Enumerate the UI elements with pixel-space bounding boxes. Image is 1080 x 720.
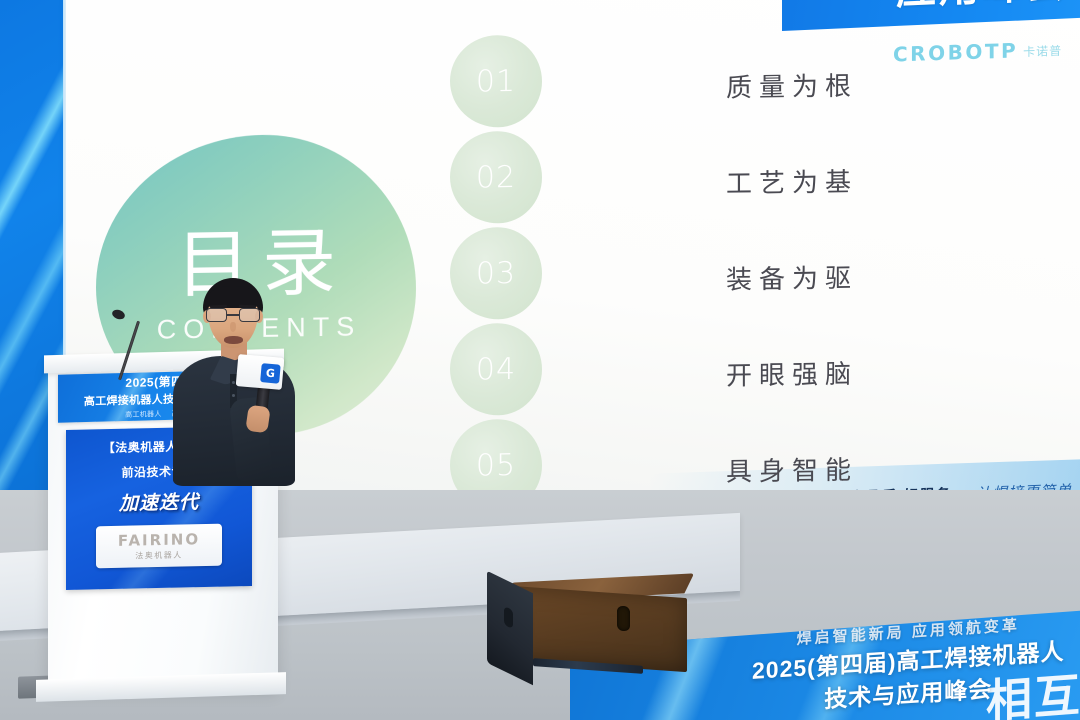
slide-item: 开眼强脑: [726, 324, 858, 422]
slide-number-text: 04: [476, 351, 516, 387]
slide-item: 工艺为基: [726, 132, 858, 230]
slide-number-text: 03: [476, 255, 516, 291]
podium-org-1: 高工机器人: [125, 409, 162, 420]
glasses-icon: [206, 308, 260, 322]
slide-item-label: 具身智能: [726, 449, 858, 488]
slide-item-label: 质量为根: [726, 65, 858, 104]
slide-item: 装备为驱: [726, 228, 858, 326]
stage-monitor-speaker: [487, 578, 687, 674]
slide-item-label: 开眼强脑: [726, 353, 858, 392]
slide-number-circle: 04: [450, 323, 542, 416]
slide-number-column: 01 02 03 04 05: [450, 35, 542, 516]
glasses-lens-right: [239, 308, 260, 322]
person-shirt-button: [232, 394, 235, 397]
slide-number-circle: 03: [450, 227, 542, 320]
person-shirt-button: [232, 381, 235, 384]
fairino-logo: FAIRINO 法奥机器人: [96, 524, 222, 569]
mic-flag-box: G: [236, 354, 285, 390]
conference-stage-scene: 应用峰会 CROBOTP 卡诺普 高品质 好服务 让焊接更简单 目录 CONTE…: [0, 0, 1080, 720]
slide-number-text: 01: [476, 63, 516, 99]
slide-item-column: 质量为根 工艺为基 装备为驱 开眼强脑 具身智能: [726, 36, 858, 518]
slide-item-label: 工艺为基: [726, 161, 858, 200]
slide-number-circle: 01: [450, 35, 542, 128]
slide-number-circle: 02: [450, 131, 542, 224]
speaker-person: G: [175, 278, 295, 478]
fairino-logo-mark: FAIRINO: [118, 530, 200, 550]
slide-number-text: 02: [476, 159, 516, 195]
fairino-logo-cn: 法奥机器人: [135, 550, 183, 562]
podium-panel-line3: 加速迭代: [119, 487, 199, 516]
mic-flag-logo-icon: G: [260, 363, 281, 384]
person-nose: [230, 322, 236, 332]
person-mouth: [224, 336, 243, 344]
glasses-bridge: [227, 314, 239, 316]
slide-number-text: 05: [476, 447, 516, 483]
slide-item-label: 装备为驱: [726, 257, 858, 296]
monitor-handle-icon: [617, 606, 630, 632]
glasses-lens-left: [206, 308, 227, 322]
slide-item: 质量为根: [726, 36, 858, 134]
monitor-side-handle-icon: [504, 606, 513, 629]
